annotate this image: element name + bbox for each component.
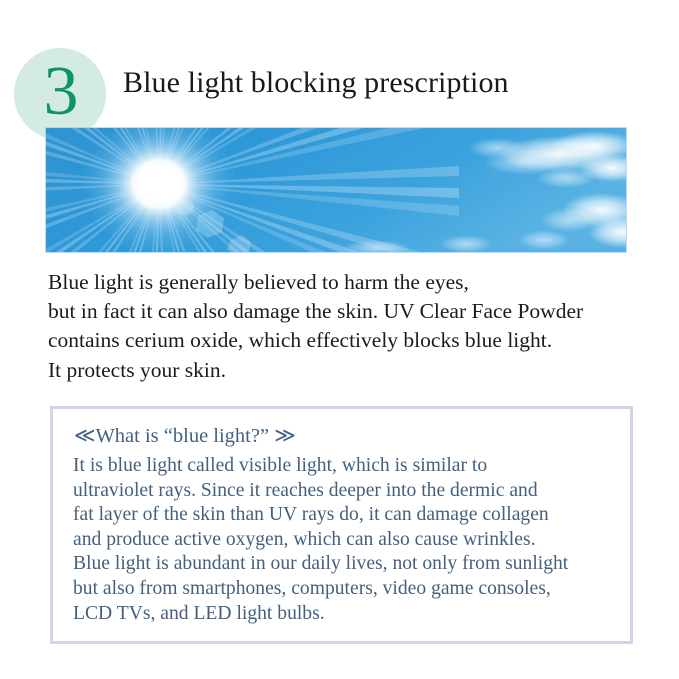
sky-banner-image [46,128,626,252]
callout-body-text: It is blue light called visible light, w… [73,454,618,626]
section-header: 3 Blue light blocking prescription [0,22,679,126]
callout-heading: ≪What is “blue light?” ≫ [74,423,296,450]
page-title: Blue light blocking prescription [123,64,509,102]
step-number-badge: 3 [14,48,106,140]
intro-paragraph: Blue light is generally believed to harm… [48,268,648,385]
page-root: 3 Blue light blocking prescription [0,0,679,679]
sun-sky-illustration [46,128,626,252]
step-number-label: 3 [44,57,79,127]
blue-light-callout-box: ≪What is “blue light?” ≫ It is blue ligh… [50,406,633,644]
